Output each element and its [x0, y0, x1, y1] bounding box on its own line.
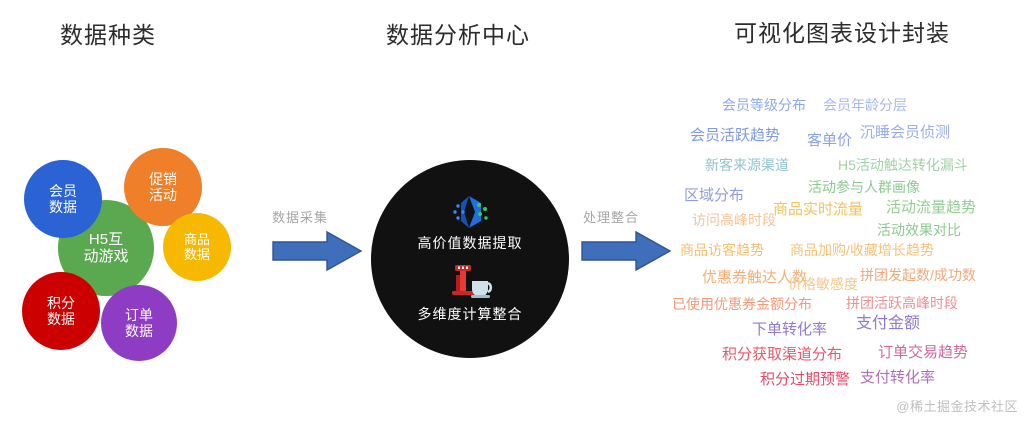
cloud-word[interactable]: 活动效果对比 [877, 223, 961, 237]
hub-label-multidim-compute: 多维度计算整合 [418, 304, 523, 324]
bubble-product-data-line2: 数据 [184, 247, 210, 262]
bubble-points-data-line1: 积分 [47, 295, 75, 311]
bubble-order-data-line2: 数据 [125, 323, 153, 339]
metric-word-cloud: 会员等级分布会员年龄分层会员活跃趋势客单价沉睡会员侦测新客来源渠道H5活动触达转… [660, 80, 1032, 400]
hub-block-multidim-compute: 多维度计算整合 [418, 261, 523, 324]
bubble-order-data[interactable]: 订单 数据 [101, 285, 177, 361]
bubble-promotion-activity-line1: 促销 [149, 171, 177, 187]
bubble-member-data-line1: 会员 [49, 183, 77, 199]
cloud-word[interactable]: 新客来源渠道 [705, 158, 789, 172]
infographic-canvas: 数据种类 数据分析中心 可视化图表设计封装 会员 数据 促销 活动 H5互 动游… [0, 0, 1032, 427]
cloud-word[interactable]: 访问高峰时段 [692, 213, 776, 227]
hub-label-data-extraction: 高价值数据提取 [418, 233, 523, 253]
arrow-right-icon-integration [580, 228, 672, 274]
section-title-visualization: 可视化图表设计封装 [734, 14, 950, 48]
bubble-order-data-line1: 订单 [125, 307, 153, 323]
analysis-hub-circle: 高价值数据提取 多维度计算整合 [371, 160, 569, 358]
cloud-word[interactable]: 支付金额 [856, 316, 920, 332]
cloud-word[interactable]: 区域分布 [684, 188, 744, 203]
cloud-word[interactable]: 积分获取渠道分布 [722, 347, 842, 362]
cloud-word[interactable]: 支付转化率 [860, 370, 935, 385]
cloud-word[interactable]: 客单价 [807, 133, 852, 148]
cloud-word[interactable]: 拼团发起数/成功数 [860, 268, 976, 282]
bubble-member-data-line2: 数据 [49, 199, 77, 215]
flow-label-process-integration: 处理整合 [583, 207, 639, 226]
cloud-word[interactable]: 活动流量趋势 [886, 200, 976, 215]
cloud-word[interactable]: H5活动触达转化漏斗 [838, 158, 968, 172]
cloud-word[interactable]: 拼团活跃高峰时段 [846, 296, 958, 310]
flow-label-data-collection: 数据采集 [272, 207, 328, 226]
data-extraction-icon [449, 194, 491, 230]
mixer-icon [447, 261, 493, 301]
cloud-word[interactable]: 已使用优惠券金额分布 [672, 297, 812, 311]
cloud-word[interactable]: 商品加购/收藏增长趋势 [790, 243, 934, 257]
arrow-right-icon-collection [271, 228, 363, 274]
bubble-product-data[interactable]: 商品 数据 [163, 213, 231, 281]
hub-block-data-extraction: 高价值数据提取 [418, 194, 523, 253]
bubble-points-data-line2: 数据 [47, 311, 75, 327]
bubble-promotion-activity-line2: 活动 [149, 187, 177, 203]
bubble-product-data-line1: 商品 [184, 232, 210, 247]
cloud-word[interactable]: 下单转化率 [752, 322, 827, 337]
cloud-word[interactable]: 价格敏感度 [788, 277, 858, 291]
section-title-data-types: 数据种类 [60, 16, 156, 50]
cloud-word[interactable]: 商品访客趋势 [680, 243, 764, 257]
cloud-word[interactable]: 沉睡会员侦测 [860, 125, 950, 140]
cloud-word[interactable]: 会员等级分布 [722, 98, 806, 112]
bubble-member-data[interactable]: 会员 数据 [24, 160, 102, 238]
cloud-word[interactable]: 积分过期预警 [760, 372, 850, 387]
cloud-word[interactable]: 会员活跃趋势 [690, 128, 780, 143]
watermark: @稀土掘金技术社区 [896, 396, 1018, 415]
cloud-word[interactable]: 商品实时流量 [773, 202, 863, 217]
cloud-word[interactable]: 订单交易趋势 [878, 345, 968, 360]
bubble-points-data[interactable]: 积分 数据 [22, 272, 100, 350]
bubble-h5-interactive-game-line1: H5互 [89, 231, 123, 248]
section-title-analysis-center: 数据分析中心 [386, 16, 530, 50]
cloud-word[interactable]: 会员年龄分层 [823, 98, 907, 112]
cloud-word[interactable]: 活动参与人群画像 [808, 180, 920, 194]
bubble-h5-interactive-game-line2: 动游戏 [83, 248, 128, 265]
